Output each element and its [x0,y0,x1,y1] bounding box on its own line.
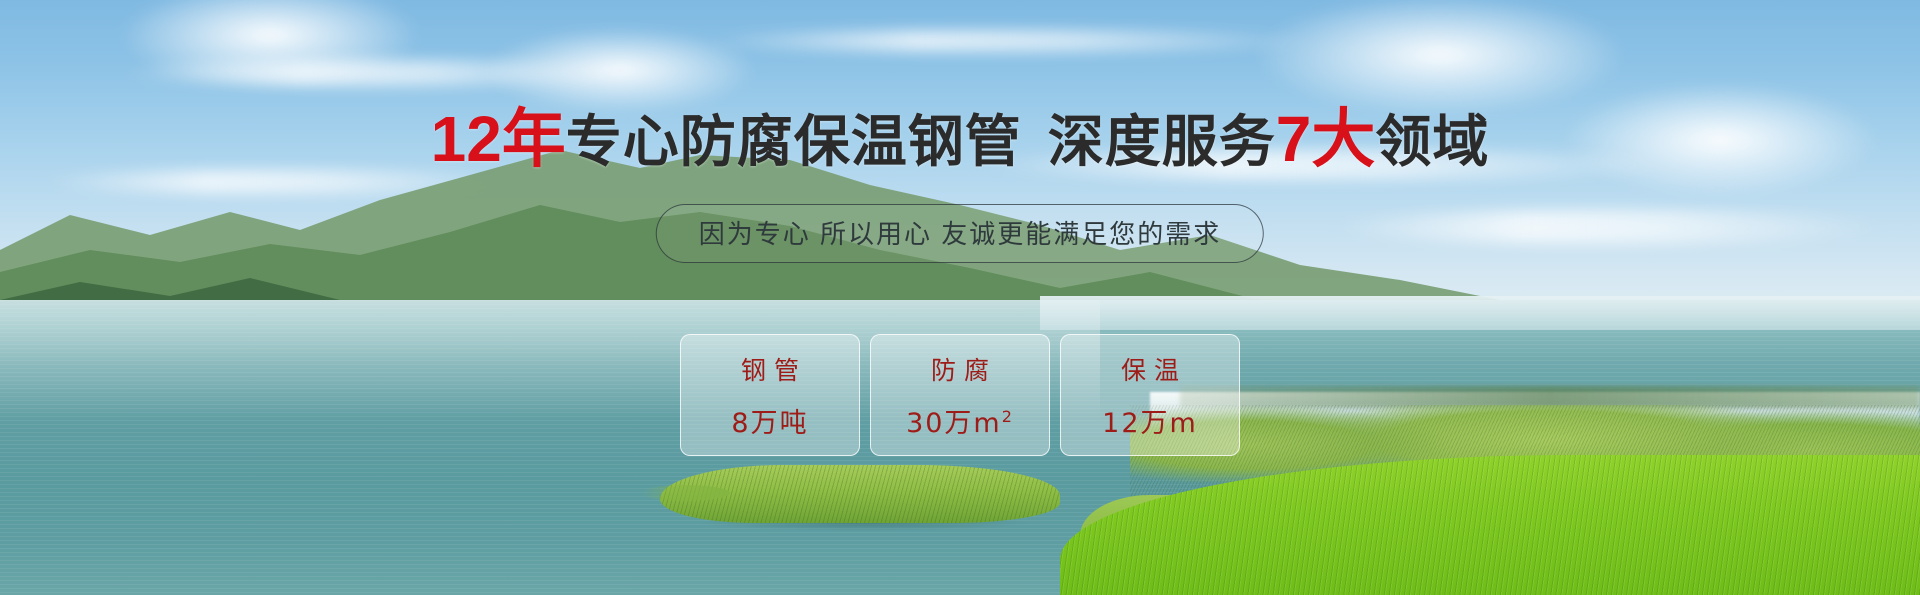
subtitle-pill: 因为专心 所以用心 友诚更能满足您的需求 [656,204,1264,263]
island-tail [640,485,730,501]
stat-card-insulation[interactable]: 保温 12万m [1060,334,1240,456]
headline-years-number: 12 [431,103,502,175]
stat-card-steel-pipe[interactable]: 钢管 8万吨 [680,334,860,456]
headline-fields-text: 领域 [1375,110,1489,173]
stat-card-value: 12万m [1102,401,1198,440]
stat-card-label: 防腐 [923,351,997,387]
stat-card-value-text: 8万吨 [731,408,808,439]
stat-card-value: 30万m2 [906,401,1014,440]
stat-card-label: 保温 [1113,351,1187,387]
grass-island [660,455,1060,527]
headline-service-text: 深度服务 [1048,110,1276,173]
stat-card-value-text: 30万m [906,408,1002,439]
headline-fields-unit: 大 [1311,103,1375,175]
far-shore-haze [1040,296,1920,330]
stat-card-value: 8万吨 [731,401,808,440]
headline-fields-number: 7 [1276,103,1312,175]
headline-main-text: 专心防腐保温钢管 [566,110,1022,173]
stat-cards: 钢管 8万吨 防腐 30万m2 保温 12万m [680,334,1240,456]
headline: 12年专心防腐保温钢管深度服务7大领域 [0,88,1920,180]
stat-card-anticorrosion[interactable]: 防腐 30万m2 [870,334,1050,456]
stat-card-value-text: 12万m [1102,408,1198,439]
stat-card-label: 钢管 [733,351,807,387]
headline-years-unit: 年 [502,103,566,175]
stat-card-value-superscript: 2 [1002,407,1014,426]
hero-banner: 12年专心防腐保温钢管深度服务7大领域 因为专心 所以用心 友诚更能满足您的需求… [0,0,1920,595]
